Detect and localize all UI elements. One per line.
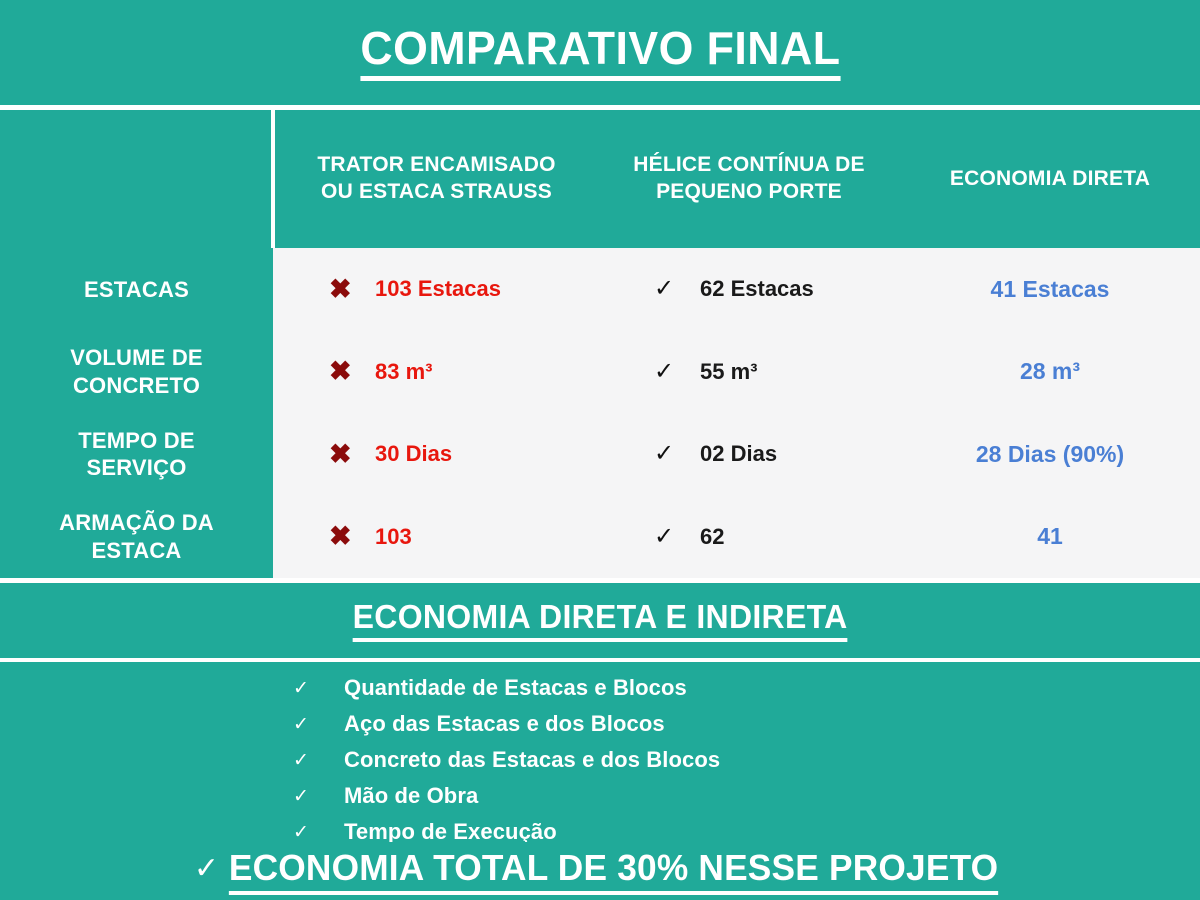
cell-trator-estacas: ✖ 103 Estacas (273, 248, 598, 331)
cell-helice-armacao-value: 62 (700, 524, 724, 550)
table-row: TEMPO DE SERVIÇO ✖ 30 Dias ✓ 02 Dias 28 … (0, 413, 1200, 496)
row-label-estacas-line1: ESTACAS (0, 276, 273, 303)
x-icon: ✖ (329, 523, 375, 550)
comparison-table: TRATOR ENCAMISADO OU ESTACA STRAUSS HÉLI… (0, 110, 1200, 578)
cell-economia-tempo: 28 Dias (90%) (900, 413, 1200, 496)
title-banner: COMPARATIVO FINAL (0, 0, 1200, 105)
column-header-trator-line1: TRATOR ENCAMISADO (275, 152, 598, 179)
column-header-trator: TRATOR ENCAMISADO OU ESTACA STRAUSS (273, 110, 598, 248)
column-header-economia-line1: ECONOMIA DIRETA (900, 166, 1200, 193)
check-icon: ✓ (293, 787, 344, 806)
check-icon: ✓ (194, 854, 219, 884)
check-icon: ✓ (293, 751, 344, 770)
list-item-label: Quantidade de Estacas e Blocos (344, 675, 687, 701)
row-label-tempo-servico-line2: SERVIÇO (0, 454, 273, 481)
cell-economia-volume: 28 m³ (900, 331, 1200, 414)
row-label-tempo-servico: TEMPO DE SERVIÇO (0, 413, 273, 496)
list-item-label: Concreto das Estacas e dos Blocos (344, 747, 720, 773)
check-icon: ✓ (654, 525, 700, 549)
column-header-helice: HÉLICE CONTÍNUA DE PEQUENO PORTE (598, 110, 900, 248)
cell-trator-armacao-value: 103 (375, 524, 412, 550)
list-item: ✓ Quantidade de Estacas e Blocos (0, 670, 1200, 706)
cell-economia-armacao-value: 41 (1037, 523, 1063, 550)
column-header-helice-line1: HÉLICE CONTÍNUA DE (598, 152, 900, 179)
cell-trator-volume: ✖ 83 m³ (273, 331, 598, 414)
cell-trator-volume-value: 83 m³ (375, 359, 432, 385)
cell-trator-tempo-value: 30 Dias (375, 441, 452, 467)
row-label-volume-concreto-line1: VOLUME DE (0, 344, 273, 371)
cell-helice-estacas-value: 62 Estacas (700, 276, 814, 302)
row-label-volume-concreto: VOLUME DE CONCRETO (0, 331, 273, 414)
list-item-label: Mão de Obra (344, 783, 478, 809)
cell-helice-estacas: ✓ 62 Estacas (598, 248, 900, 331)
cell-helice-tempo: ✓ 02 Dias (598, 413, 900, 496)
list-item: ✓ Concreto das Estacas e dos Blocos (0, 742, 1200, 778)
table-header-row: TRATOR ENCAMISADO OU ESTACA STRAUSS HÉLI… (0, 110, 1200, 248)
column-header-trator-line2: OU ESTACA STRAUSS (275, 179, 598, 206)
x-icon: ✖ (329, 441, 375, 468)
table-row: VOLUME DE CONCRETO ✖ 83 m³ ✓ 55 m³ 28 m³ (0, 331, 1200, 414)
total-savings-label: ECONOMIA TOTAL DE 30% NESSE PROJETO (229, 847, 998, 895)
row-label-tempo-servico-line1: TEMPO DE (0, 427, 273, 454)
cell-economia-estacas-value: 41 Estacas (991, 276, 1110, 303)
row-label-volume-concreto-line2: CONCRETO (0, 372, 273, 399)
total-savings-banner: ✓ ECONOMIA TOTAL DE 30% NESSE PROJETO (0, 842, 1200, 900)
page-title: COMPARATIVO FINAL (360, 24, 840, 80)
cell-helice-volume: ✓ 55 m³ (598, 331, 900, 414)
column-header-helice-line2: PEQUENO PORTE (598, 179, 900, 206)
row-label-armacao-estaca-line2: ESTACA (0, 537, 273, 564)
cell-economia-tempo-value: 28 Dias (90%) (976, 441, 1124, 468)
table-row: ESTACAS ✖ 103 Estacas ✓ 62 Estacas 41 Es… (0, 248, 1200, 331)
check-icon: ✓ (293, 823, 344, 842)
check-icon: ✓ (654, 277, 700, 301)
check-icon: ✓ (293, 715, 344, 734)
list-item: ✓ Aço das Estacas e dos Blocos (0, 706, 1200, 742)
row-label-armacao-estaca-line1: ARMAÇÃO DA (0, 509, 273, 536)
check-icon: ✓ (654, 360, 700, 384)
section-title: ECONOMIA DIRETA E INDIRETA (353, 598, 848, 642)
list-item-label: Aço das Estacas e dos Blocos (344, 711, 665, 737)
section-title-banner: ECONOMIA DIRETA E INDIRETA (0, 582, 1200, 658)
benefits-list: ✓ Quantidade de Estacas e Blocos ✓ Aço d… (0, 662, 1200, 842)
cell-economia-estacas: 41 Estacas (900, 248, 1200, 331)
column-header-blank (0, 110, 273, 248)
cell-economia-armacao: 41 (900, 496, 1200, 579)
x-icon: ✖ (329, 276, 375, 303)
row-label-armacao-estaca: ARMAÇÃO DA ESTACA (0, 496, 273, 579)
cell-helice-volume-value: 55 m³ (700, 359, 757, 385)
cell-trator-armacao: ✖ 103 (273, 496, 598, 579)
cell-economia-volume-value: 28 m³ (1020, 358, 1080, 385)
table-row: ARMAÇÃO DA ESTACA ✖ 103 ✓ 62 41 (0, 496, 1200, 579)
row-label-estacas: ESTACAS (0, 248, 273, 331)
cell-helice-tempo-value: 02 Dias (700, 441, 777, 467)
check-icon: ✓ (654, 442, 700, 466)
cell-trator-estacas-value: 103 Estacas (375, 276, 501, 302)
check-icon: ✓ (293, 679, 344, 698)
list-item: ✓ Mão de Obra (0, 778, 1200, 814)
section-divider-top (0, 578, 1200, 583)
cell-helice-armacao: ✓ 62 (598, 496, 900, 579)
column-header-economia: ECONOMIA DIRETA (900, 110, 1200, 248)
x-icon: ✖ (329, 358, 375, 385)
cell-trator-tempo: ✖ 30 Dias (273, 413, 598, 496)
